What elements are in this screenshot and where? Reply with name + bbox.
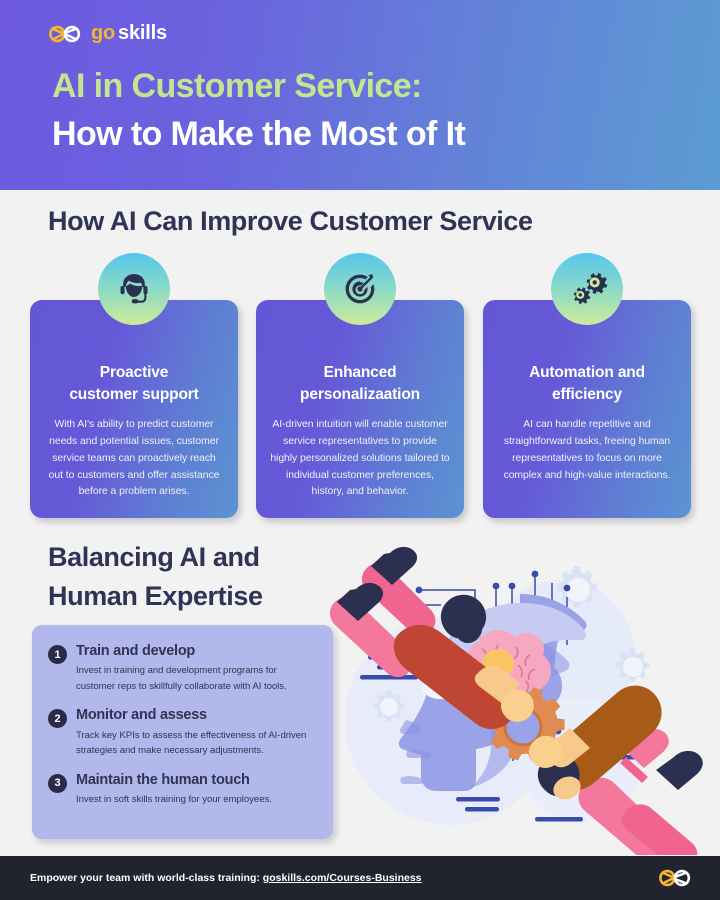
step-heading: Train and develop [76,643,317,660]
section2-heading-line2: Human Expertise [48,581,263,611]
section2-heading: Balancing AI and Human Expertise [48,538,263,617]
benefit-card-body: AI-driven intuition will enable customer… [270,417,450,501]
brand-wordmark: goskills [91,22,167,45]
step-number-badge: 1 [48,645,67,664]
brand-name-go: go [91,22,115,44]
step-content: Maintain the human touch Invest in soft … [76,772,317,808]
headset-support-icon [98,253,170,325]
step-number-badge: 2 [48,709,67,728]
page-title-line1: AI in Customer Service: [52,62,465,110]
step-heading: Maintain the human touch [76,772,317,789]
section2-heading-line1: Balancing AI and [48,542,260,572]
list-item[interactable]: 3 Maintain the human touch Invest in sof… [48,772,317,808]
benefit-card-title: Proactive customer support [44,362,224,406]
page-header: goskills AI in Customer Service: How to … [0,0,720,190]
step-number-badge: 3 [48,774,67,793]
step-description: Track key KPIs to assess the effectivene… [76,728,317,759]
step-content: Train and develop Invest in training and… [76,643,317,694]
benefit-card-enhanced-personalization[interactable]: Enhanced personalizaation AI-driven intu… [256,300,464,518]
benefit-card-title: Automation and efficiency [497,362,677,406]
benefit-card-body: AI can handle repetitive and straightfor… [497,417,677,484]
brand-name-skills: skills [118,22,167,44]
section1-heading: How AI Can Improve Customer Service [48,206,533,237]
infinity-icon [658,868,692,888]
footer-tagline: Empower your team with world-class train… [30,872,422,884]
list-item[interactable]: 2 Monitor and assess Track key KPIs to a… [48,707,317,758]
infinity-icon [48,24,82,44]
step-heading: Monitor and assess [76,707,317,724]
page-title: AI in Customer Service: How to Make the … [52,62,465,159]
benefit-card-proactive-support[interactable]: Proactive customer support With AI's abi… [30,300,238,518]
footer-tagline-text: Empower your team with world-class train… [30,872,263,884]
steps-panel: 1 Train and develop Invest in training a… [32,625,333,839]
human-head-brain-gear-teamwork-illustration [330,545,720,855]
step-content: Monitor and assess Track key KPIs to ass… [76,707,317,758]
brand-logo[interactable]: goskills [48,22,167,45]
list-item[interactable]: 1 Train and develop Invest in training a… [48,643,317,694]
page-footer: Empower your team with world-class train… [0,856,720,900]
footer-link[interactable]: goskills.com/Courses-Business [263,872,422,884]
benefit-card-body: With AI's ability to predict customer ne… [44,417,224,501]
page-title-line2: How to Make the Most of It [52,110,465,158]
gears-icon [551,253,623,325]
benefit-card-list: Proactive customer support With AI's abi… [0,300,720,525]
benefit-card-automation-efficiency[interactable]: Automation and efficiency AI can handle … [483,300,691,518]
target-arrow-icon [324,253,396,325]
benefit-card-title: Enhanced personalizaation [270,362,450,406]
step-description: Invest in training and development progr… [76,663,317,694]
step-description: Invest in soft skills training for your … [76,792,317,808]
